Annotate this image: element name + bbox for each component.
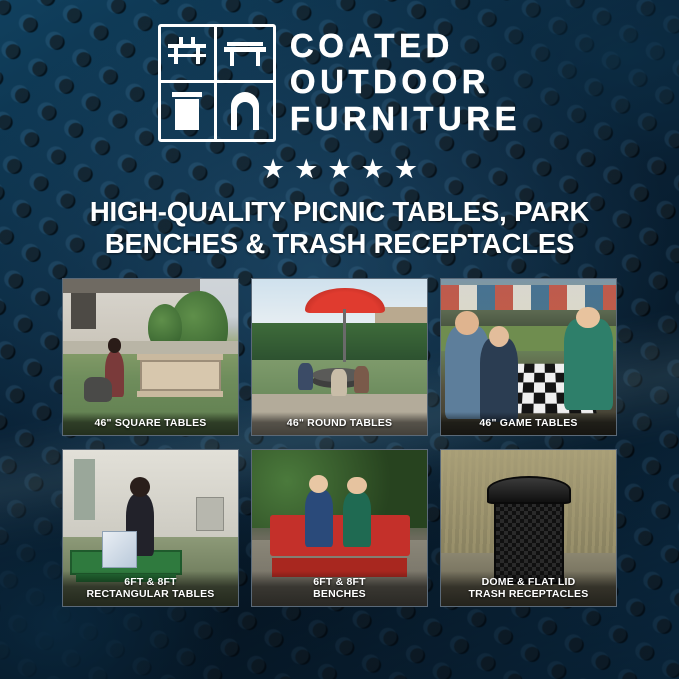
product-tile-trash-receptacles: DOME & FLAT LID TRASH RECEPTACLES bbox=[440, 449, 617, 607]
product-tile-round-tables: 46" ROUND TABLES bbox=[251, 278, 428, 436]
headline-line-2: BENCHES & TRASH RECEPTACLES bbox=[40, 228, 640, 260]
product-caption-line-2: RECTANGULAR TABLES bbox=[67, 588, 234, 600]
product-caption-line-1: DOME & FLAT LID bbox=[445, 576, 612, 588]
product-caption-line-2: BENCHES bbox=[256, 588, 423, 600]
product-caption: 46" SQUARE TABLES bbox=[63, 412, 238, 435]
brand-logo: COATED OUTDOOR FURNITURE bbox=[158, 24, 521, 142]
brand-name-line-1: COATED bbox=[290, 29, 521, 63]
poster-content: COATED OUTDOOR FURNITURE ★ ★ ★ ★ ★ HIGH-… bbox=[0, 0, 679, 679]
picnic-table-icon bbox=[161, 27, 217, 83]
product-caption-line-1: 46" GAME TABLES bbox=[445, 417, 612, 429]
star-rating: ★ ★ ★ ★ ★ bbox=[261, 156, 418, 183]
product-caption-line-1: 46" ROUND TABLES bbox=[256, 417, 423, 429]
product-tile-game-tables: 46" GAME TABLES bbox=[440, 278, 617, 436]
product-caption: 6FT & 8FT RECTANGULAR TABLES bbox=[63, 571, 238, 606]
product-caption: DOME & FLAT LID TRASH RECEPTACLES bbox=[441, 571, 616, 606]
park-bench-icon bbox=[217, 27, 273, 83]
brand-name: COATED OUTDOOR FURNITURE bbox=[290, 29, 521, 138]
product-caption: 46" ROUND TABLES bbox=[252, 412, 427, 435]
product-caption: 6FT & 8FT BENCHES bbox=[252, 571, 427, 606]
product-tile-benches: 6FT & 8FT BENCHES bbox=[251, 449, 428, 607]
product-tile-square-tables: 46" SQUARE TABLES bbox=[62, 278, 239, 436]
product-caption-line-2: TRASH RECEPTACLES bbox=[445, 588, 612, 600]
picnic-table-bench-trash-grid-icon bbox=[158, 24, 276, 142]
star-icon: ★ bbox=[294, 156, 318, 183]
product-grid: 46" SQUARE TABLES 46" ROUND TABLES 46" G… bbox=[62, 278, 617, 607]
brand-name-line-2: OUTDOOR bbox=[290, 65, 521, 99]
flat-lid-trash-can-icon bbox=[161, 83, 217, 139]
dome-lid-trash-can-icon bbox=[217, 83, 273, 139]
product-caption-line-1: 46" SQUARE TABLES bbox=[67, 417, 234, 429]
star-icon: ★ bbox=[394, 156, 418, 183]
product-tile-rectangular-tables: 6FT & 8FT RECTANGULAR TABLES bbox=[62, 449, 239, 607]
star-icon: ★ bbox=[361, 156, 385, 183]
product-caption-line-1: 6FT & 8FT bbox=[256, 576, 423, 588]
headline-line-1: HIGH-QUALITY PICNIC TABLES, PARK bbox=[40, 196, 640, 228]
page-title: HIGH-QUALITY PICNIC TABLES, PARK BENCHES… bbox=[40, 196, 640, 261]
product-caption-line-1: 6FT & 8FT bbox=[67, 576, 234, 588]
star-icon: ★ bbox=[261, 156, 285, 183]
brand-name-line-3: FURNITURE bbox=[290, 102, 521, 136]
star-icon: ★ bbox=[327, 156, 351, 183]
product-caption: 46" GAME TABLES bbox=[441, 412, 616, 435]
